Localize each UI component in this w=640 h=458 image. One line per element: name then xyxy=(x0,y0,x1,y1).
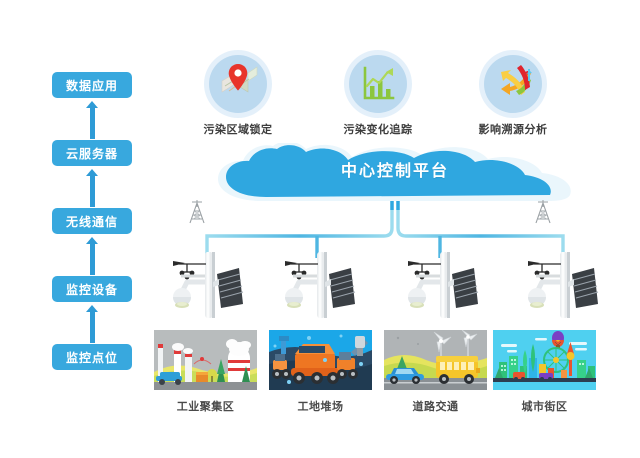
scene-tile-construction[interactable] xyxy=(269,330,372,390)
scene-tile-factory[interactable] xyxy=(154,330,257,390)
scene-tile-city-street[interactable] xyxy=(493,330,596,390)
scene-label-factory: 工业聚集区 xyxy=(154,398,257,414)
monitoring-station-4[interactable] xyxy=(520,252,606,318)
monitoring-station-1[interactable] xyxy=(165,252,251,318)
platform-label: 中心控制平台 xyxy=(210,157,580,181)
monitoring-station-3[interactable] xyxy=(400,252,486,318)
radio-tower-left-icon xyxy=(188,198,206,224)
scene-label-road-traffic: 道路交通 xyxy=(384,398,487,414)
central-control-platform[interactable]: 中心控制平台 xyxy=(210,143,580,205)
monitoring-station-2[interactable] xyxy=(277,252,363,318)
scene-label-city-street: 城市街区 xyxy=(493,398,596,414)
radio-tower-right-icon xyxy=(534,198,552,224)
scene-tile-road-traffic[interactable] xyxy=(384,330,487,390)
scene-label-construction: 工地堆场 xyxy=(269,398,372,414)
diagram-canvas: 数据应用 云服务器 无线通信 监控设备 监控点位 xyxy=(0,0,640,458)
